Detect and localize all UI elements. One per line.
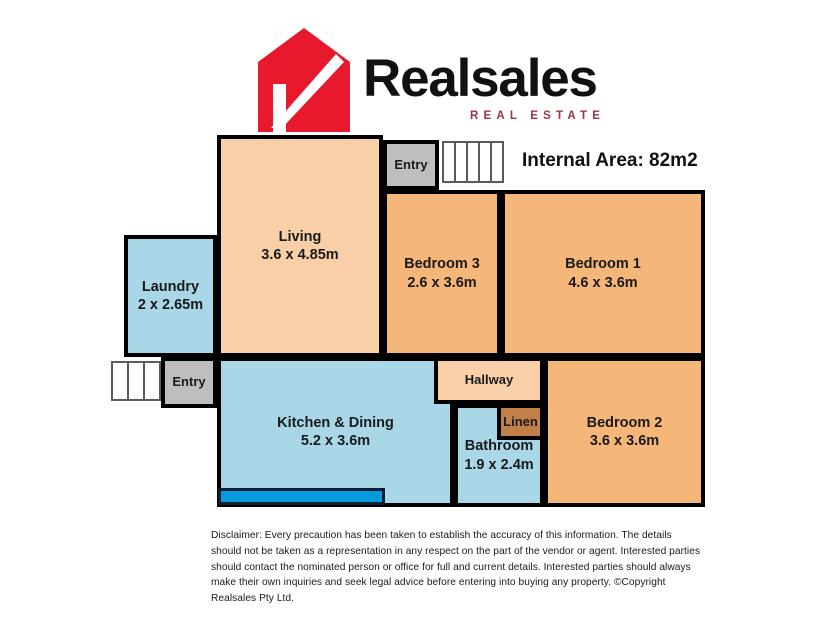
floorplan-page: Realsales REAL ESTATE Internal Area: 82m…: [0, 0, 835, 623]
kitchen-bench-strip: [218, 488, 385, 505]
room-name: Bedroom 3: [404, 255, 480, 273]
room-hallway: Hallway: [434, 357, 544, 404]
room-name: Linen: [503, 414, 538, 430]
stair-tread: [468, 143, 480, 181]
room-name: Kitchen & Dining: [277, 414, 394, 432]
stair-tread: [113, 363, 129, 399]
brand-logo: Realsales REAL ESTATE: [258, 24, 608, 136]
room-bedroom1: Bedroom 14.6 x 3.6m: [501, 190, 705, 357]
room-entry-top: Entry: [383, 140, 439, 190]
brand-tagline: REAL ESTATE: [470, 110, 605, 122]
room-dimensions: 2 x 2.65m: [138, 296, 203, 314]
room-bedroom3: Bedroom 32.6 x 3.6m: [383, 190, 501, 357]
stair-tread: [492, 143, 504, 181]
room-laundry: Laundry2 x 2.65m: [124, 235, 217, 357]
room-name: Entry: [394, 157, 427, 173]
room-name: Hallway: [465, 372, 513, 388]
room-name: Bedroom 2: [587, 414, 663, 432]
stair-tread: [145, 363, 161, 399]
room-dimensions: 4.6 x 3.6m: [568, 274, 637, 292]
room-linen: Linen: [497, 404, 544, 440]
room-name: Entry: [172, 374, 205, 390]
room-entry-bottom: Entry: [161, 357, 217, 408]
room-dimensions: 2.6 x 3.6m: [407, 274, 476, 292]
room-dimensions: 3.6 x 3.6m: [590, 432, 659, 450]
stairs-top: [442, 141, 504, 183]
house-logo-icon: [258, 28, 350, 132]
stairs-bottom: [111, 361, 161, 401]
room-living: Living3.6 x 4.85m: [217, 135, 383, 357]
room-bedroom2: Bedroom 23.6 x 3.6m: [544, 357, 705, 507]
room-name: Living: [279, 228, 322, 246]
room-dimensions: 1.9 x 2.4m: [464, 456, 533, 474]
room-dimensions: 5.2 x 3.6m: [301, 432, 370, 450]
room-name: Bathroom: [465, 437, 533, 455]
internal-area-label: Internal Area: 82m2: [522, 150, 698, 172]
room-name: Laundry: [142, 278, 199, 296]
stair-tread: [456, 143, 468, 181]
room-name: Bedroom 1: [565, 255, 641, 273]
disclaimer-text: Disclaimer: Every precaution has been ta…: [211, 528, 701, 607]
stair-tread: [444, 143, 456, 181]
stair-tread: [129, 363, 145, 399]
stair-tread: [480, 143, 492, 181]
room-dimensions: 3.6 x 4.85m: [261, 246, 338, 264]
room-kitchen-dining: Kitchen & Dining5.2 x 3.6m: [217, 357, 454, 507]
brand-wordmark: Realsales: [363, 52, 597, 105]
